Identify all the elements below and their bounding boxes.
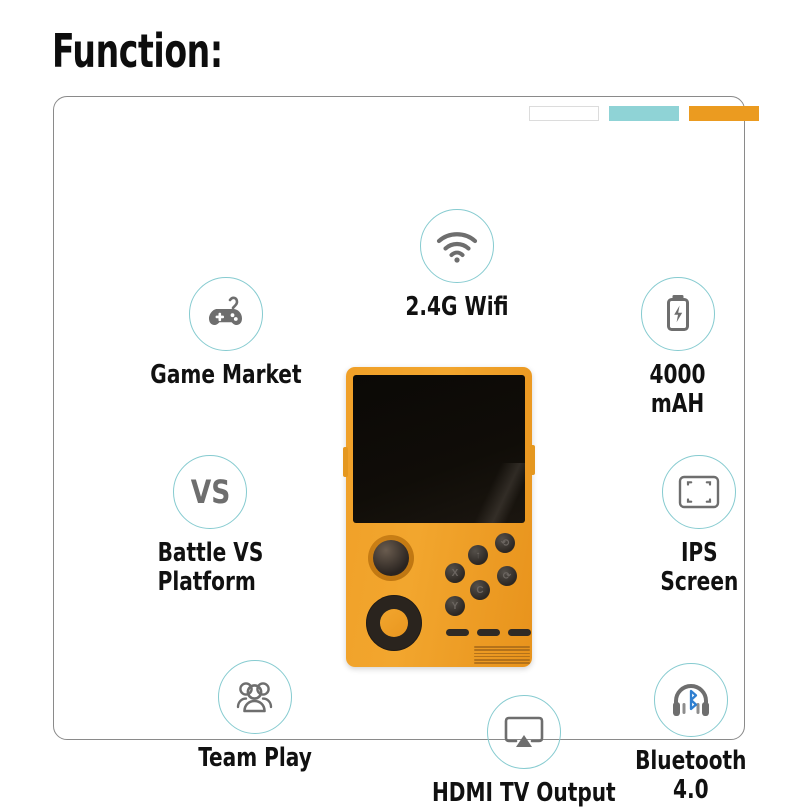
feature-icon-circle: VS	[173, 455, 247, 529]
feature-label: Bluetooth 4.0	[635, 747, 746, 805]
speaker-grille	[474, 646, 530, 664]
color-bar-group	[529, 106, 759, 121]
handheld-game-console: X Y ↑ C ⟲ ⟳	[346, 367, 532, 667]
feature-icon-circle	[218, 660, 292, 734]
function-button-2[interactable]	[477, 629, 500, 636]
people-group-icon	[232, 678, 278, 716]
vs-icon: VS	[191, 473, 231, 511]
face-button-y[interactable]: Y	[445, 596, 465, 616]
gamepad-icon	[204, 294, 248, 334]
feature-battle-vs: VS Battle VS Platform	[149, 455, 272, 597]
airplay-icon	[502, 713, 546, 751]
feature-icon-circle	[420, 209, 494, 283]
screen-frame-icon	[677, 474, 721, 510]
face-button-up[interactable]: ↑	[468, 545, 488, 565]
feature-ips-screen: IPS Screen	[654, 455, 745, 597]
dpad-ring[interactable]	[366, 595, 422, 651]
page-title: Function:	[52, 24, 223, 78]
screen-reflection	[467, 463, 525, 523]
feature-game-market: Game Market	[138, 277, 314, 390]
face-button-b[interactable]: ⟳	[497, 566, 517, 586]
analog-stick-cap	[373, 540, 409, 576]
bar-orange	[689, 106, 759, 121]
feature-label: 2.4G Wifi	[405, 293, 508, 322]
face-button-x[interactable]: X	[445, 563, 465, 583]
feature-hdmi-output: HDMI TV Output	[417, 695, 631, 808]
feature-card: Game Market 2.4G Wifi	[53, 96, 745, 740]
device-side-button-right[interactable]	[530, 445, 535, 475]
feature-label: Team Play	[198, 744, 312, 773]
device-side-button-left[interactable]	[343, 447, 348, 477]
bar-white	[529, 106, 599, 121]
feature-wifi: 2.4G Wifi	[397, 209, 517, 322]
feature-label: IPS Screen	[660, 539, 738, 597]
feature-label: 4000 mAH	[620, 361, 734, 419]
face-button-a[interactable]: ⟲	[495, 533, 515, 553]
bar-teal	[609, 106, 679, 121]
headphones-bluetooth-icon	[669, 681, 713, 719]
battery-charging-icon	[661, 292, 695, 336]
device-screen	[353, 375, 525, 523]
feature-label: Game Market	[150, 361, 301, 390]
analog-stick[interactable]	[368, 535, 414, 581]
face-button-c[interactable]: C	[470, 580, 490, 600]
feature-icon-circle	[487, 695, 561, 769]
infographic-root: Function: Game Market	[0, 0, 800, 800]
feature-battery: 4000 mAH	[611, 277, 744, 419]
feature-label: HDMI TV Output	[432, 779, 616, 808]
feature-team-play: Team Play	[189, 660, 321, 773]
feature-icon-circle	[189, 277, 263, 351]
feature-icon-circle	[641, 277, 715, 351]
feature-icon-circle	[654, 663, 728, 737]
feature-label: Battle VS Platform	[158, 539, 264, 597]
function-button-3[interactable]	[508, 629, 531, 636]
wifi-icon	[435, 229, 479, 263]
feature-icon-circle	[662, 455, 736, 529]
dpad-center	[380, 609, 408, 637]
feature-bluetooth: Bluetooth 4.0	[626, 663, 756, 805]
function-button-1[interactable]	[446, 629, 469, 636]
